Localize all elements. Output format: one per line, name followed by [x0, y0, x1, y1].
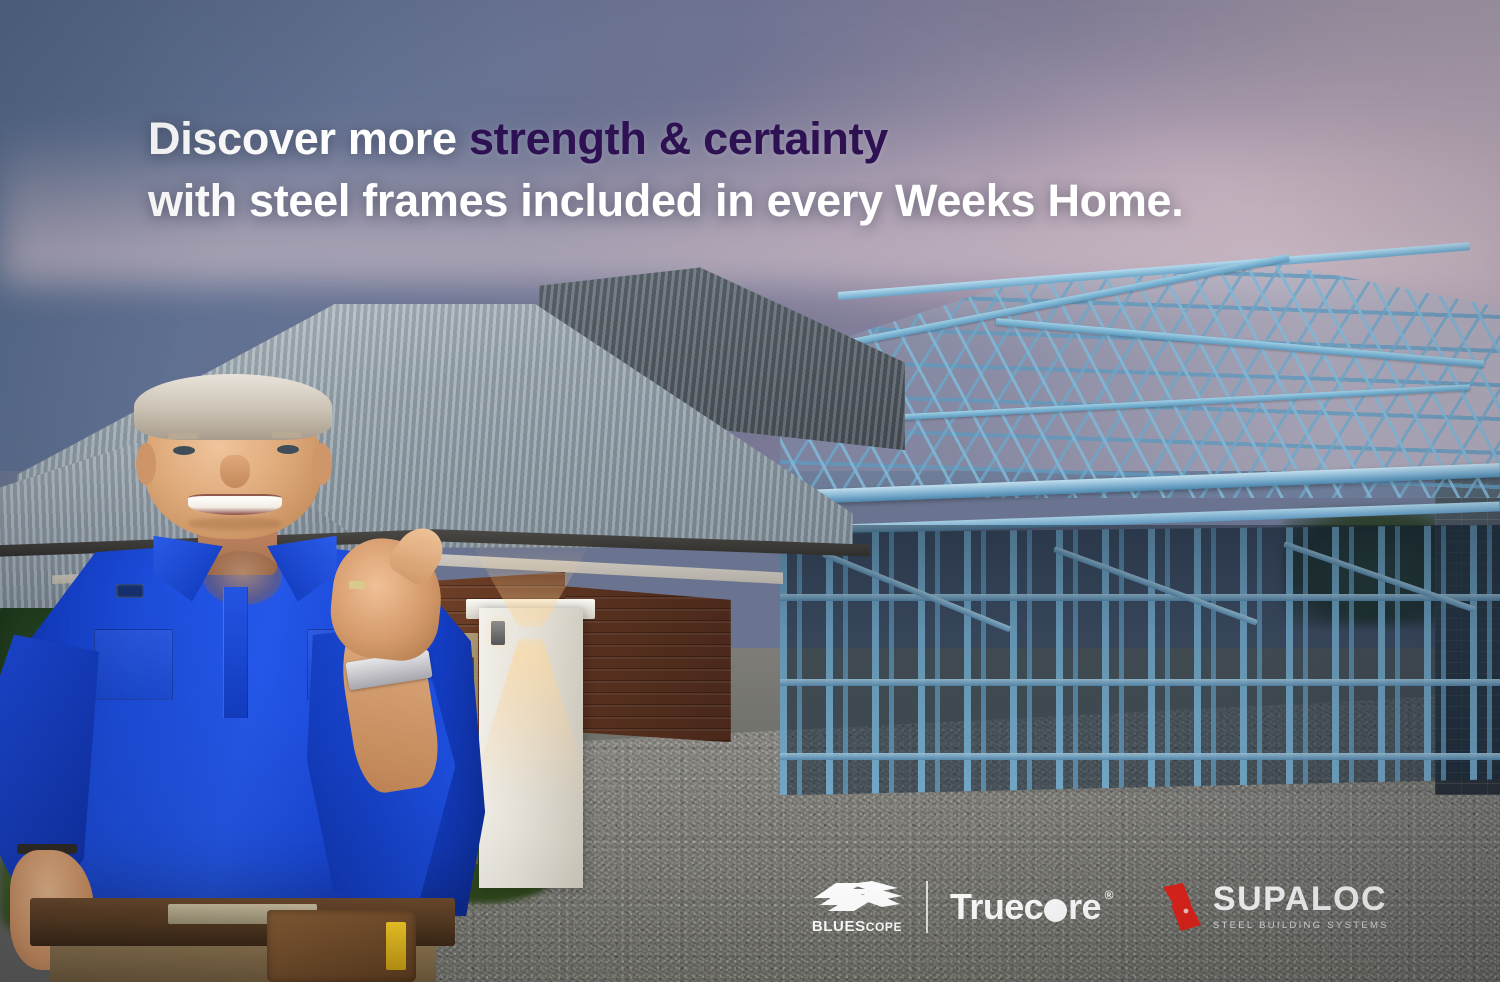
truecore-word-after: re [1068, 886, 1101, 927]
ear-right [312, 443, 332, 485]
truecore-registered-icon: ® [1105, 888, 1113, 902]
advert-banner: Discover more strength & certainty with … [0, 0, 1500, 982]
headline-plain-text: Discover more [148, 113, 469, 164]
wall-noggin [780, 679, 1500, 686]
bluescope-logo: BLUESCOPE [810, 878, 904, 935]
headline-accent-text: strength & certainty [469, 113, 888, 164]
wall-bottom-plate [780, 753, 1500, 760]
shirt-placket [223, 587, 248, 719]
supaloc-text-block: SUPALOC STEEL BUILDING SYSTEMS [1213, 882, 1389, 931]
logo-divider [926, 881, 928, 933]
wall-noggin [780, 594, 1500, 601]
bluescope-word-s: S [855, 918, 866, 935]
supaloc-wordmark: SUPALOC [1213, 882, 1389, 916]
bluescope-word-blue: BLUE [812, 918, 855, 935]
shirt-brand-tag [116, 584, 143, 598]
headline: Discover more strength & certainty with … [148, 108, 1398, 232]
nose [220, 455, 250, 488]
finger-ring [349, 581, 365, 589]
partner-logo-bar: BLUESCOPE Truecre® SUPALOC STEEL BUILDIN… [810, 878, 1389, 935]
truecore-o-glyph [1044, 899, 1067, 922]
hair [134, 374, 332, 440]
headline-line-1: Discover more strength & certainty [148, 108, 1398, 170]
eyebrow-right [272, 432, 302, 438]
shirt-pocket-left [94, 629, 173, 701]
bluescope-wave-icon [810, 878, 904, 914]
truecore-word-before: Truec [950, 886, 1043, 927]
eyebrow-left [168, 433, 198, 439]
supaloc-logo: SUPALOC STEEL BUILDING SYSTEMS [1161, 881, 1389, 933]
ear-left [136, 443, 156, 485]
supaloc-bolt-icon [1161, 881, 1207, 933]
truecore-logo: Truecre® [950, 886, 1113, 928]
bluescope-wordmark: BLUESCOPE [812, 918, 902, 935]
yellow-tool [386, 922, 406, 970]
supaloc-tagline: STEEL BUILDING SYSTEMS [1213, 920, 1389, 931]
steel-frame-structure [780, 265, 1500, 795]
truecore-wordmark: Truecre® [950, 886, 1113, 928]
bluescope-word-cope: COPE [866, 920, 902, 934]
headline-line-2: with steel frames included in every Week… [148, 170, 1398, 232]
presenter-person [0, 383, 495, 982]
